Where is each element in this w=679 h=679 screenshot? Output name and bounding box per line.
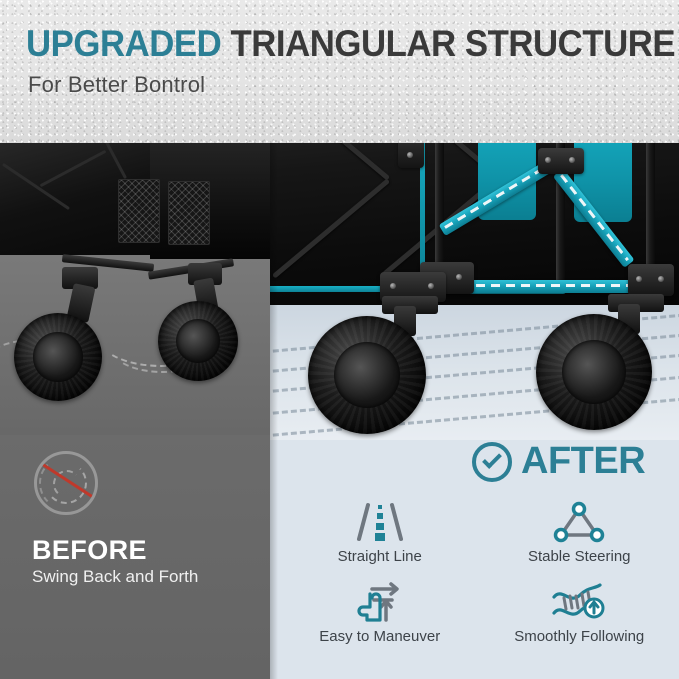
header-banner: UPGRADED TRIANGULAR STRUCTURE For Better…: [0, 0, 679, 143]
feature-easy-to-maneuver: Easy to Maneuver: [280, 578, 480, 658]
after-photo: [270, 100, 679, 440]
after-badge: AFTER: [472, 440, 645, 483]
before-subtitle: Swing Back and Forth: [32, 567, 198, 587]
feature-label: Stable Steering: [528, 548, 631, 565]
page-title: UPGRADED TRIANGULAR STRUCTURE: [26, 24, 675, 64]
feature-smoothly-following: Smoothly Following: [480, 578, 679, 658]
hand-swipe-arrows-icon: [352, 580, 408, 624]
title-highlight: UPGRADED: [26, 23, 221, 64]
title-rest: TRIANGULAR STRUCTURE: [221, 23, 675, 64]
after-wheel: [308, 316, 426, 434]
straight-road-icon: [352, 500, 408, 544]
triangle-nodes-icon: [553, 500, 605, 544]
before-wheel: [14, 313, 102, 401]
feature-label: Easy to Maneuver: [319, 628, 440, 645]
infographic-root: UPGRADED TRIANGULAR STRUCTURE For Better…: [0, 0, 679, 679]
check-circle-icon: [472, 442, 512, 482]
feature-grid: Straight Line Stable Steering: [280, 498, 679, 658]
after-label: AFTER: [521, 440, 645, 483]
feature-straight-line: Straight Line: [280, 498, 480, 578]
after-joint-bracket: [538, 148, 584, 174]
after-wheel: [536, 314, 652, 430]
page-subtitle: For Better Bontrol: [28, 72, 205, 98]
before-title: BEFORE: [32, 535, 147, 566]
feature-label: Smoothly Following: [514, 628, 644, 645]
before-mesh-pocket: [168, 181, 210, 245]
before-photo: [0, 143, 270, 435]
after-joint-bracket: [628, 264, 674, 296]
feature-label: Straight Line: [338, 548, 422, 565]
no-swing-icon: [34, 451, 98, 515]
before-panel: [0, 143, 270, 679]
feature-stable-steering: Stable Steering: [480, 498, 679, 578]
before-mesh-pocket: [118, 179, 160, 243]
smooth-wave-arrow-icon: [550, 580, 608, 624]
panel-divider: [270, 100, 278, 679]
before-wheel: [158, 301, 238, 381]
